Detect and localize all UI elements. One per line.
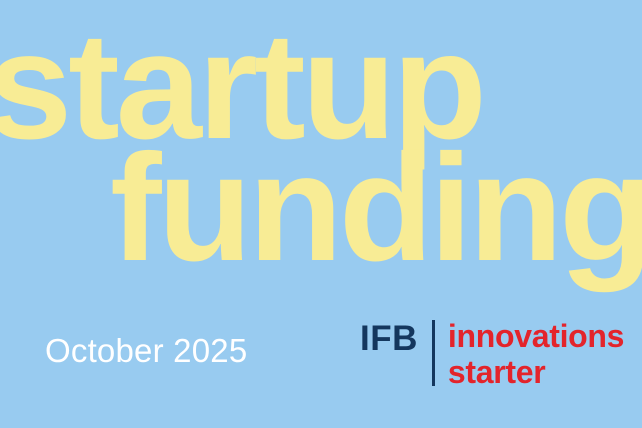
- logo-word-innovations: innovations: [448, 320, 624, 354]
- headline-block: startup funding: [0, 0, 642, 310]
- logo-word-starter: starter: [448, 356, 624, 390]
- logo-mark-ifb: IFB: [360, 320, 418, 356]
- poster-canvas: startup funding October 2025 IFB innovat…: [0, 0, 642, 428]
- ifb-logo: IFB innovations starter: [360, 320, 624, 392]
- logo-wordmark: innovations starter: [448, 320, 624, 390]
- date-caption: October 2025: [45, 332, 247, 370]
- headline-line-funding: funding: [110, 132, 642, 284]
- headline-line-startup: startup: [0, 10, 483, 162]
- logo-divider: [432, 320, 435, 386]
